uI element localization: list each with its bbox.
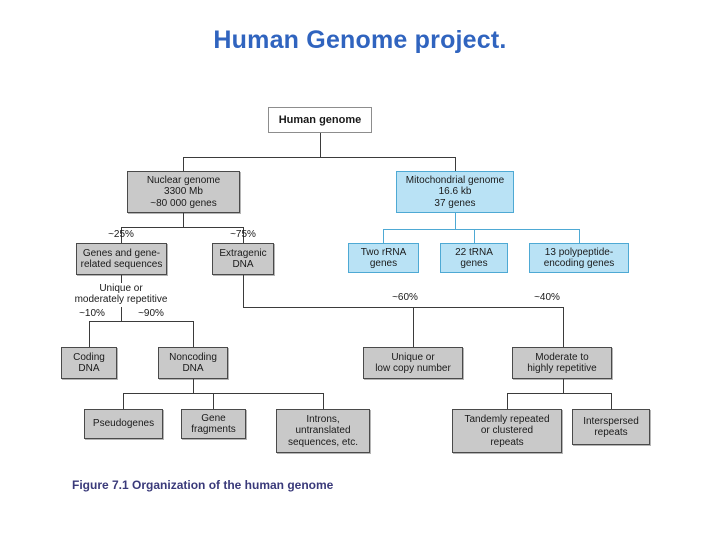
node-13-polypeptide-encoding-genes[interactable]: 13 polypeptide- encoding genes [529,243,629,273]
connector-nuclear-stem [183,213,184,227]
connector-mito-stem [455,213,456,229]
connector-noncoding-stem [193,379,194,393]
genome-organization-diagram: Human genome Nuclear genome 3300 Mb ~80 … [0,95,720,495]
connector-to-interspersed-repeats [611,393,612,409]
figure-caption: Figure 7.1 Organization of the human gen… [72,478,492,492]
node-two-rrna-genes[interactable]: Two rRNA genes [348,243,419,273]
node-extragenic-dna[interactable]: Extragenic DNA [212,243,274,275]
connector-to-tandemly-repeated [507,393,508,409]
connector-to-mitochondrial [455,157,456,171]
connector-mito-span [383,229,579,230]
connector-to-unique-low-copy [413,307,414,347]
connector-to-polypeptide [579,229,580,243]
label-pct-25: ~25% [96,229,146,240]
node-genes-and-related-sequences[interactable]: Genes and gene- related sequences [76,243,167,275]
connector-nuclear-span [121,227,243,228]
connector-noncoding-span [123,393,323,394]
label-pct-40: ~40% [527,292,567,303]
node-unique-or-low-copy-number[interactable]: Unique or low copy number [363,347,463,379]
connector-to-nuclear [183,157,184,171]
connector-coding-span [89,321,193,322]
node-tandemly-repeated-clustered-repeats[interactable]: Tandemly repeated or clustered repeats [452,409,562,453]
node-mitochondrial-genome[interactable]: Mitochondrial genome 16.6 kb 37 genes [396,171,514,213]
node-gene-fragments[interactable]: Gene fragments [181,409,246,439]
connector-extragenic-stem [243,275,244,307]
connector-root-span [183,157,455,158]
node-human-genome[interactable]: Human genome [268,107,372,133]
node-noncoding-dna[interactable]: Noncoding DNA [158,347,228,379]
label-pct-90: ~90% [131,308,171,319]
connector-moderate-stem [563,379,564,393]
connector-genes-related-stem [121,275,122,283]
connector-unique-moderate-stem [121,307,122,321]
label-pct-10: ~10% [72,308,112,319]
node-nuclear-genome[interactable]: Nuclear genome 3300 Mb ~80 000 genes [127,171,240,213]
connector-to-gene-fragments [213,393,214,409]
page-title: Human Genome project. [0,26,720,55]
node-pseudogenes[interactable]: Pseudogenes [84,409,163,439]
connector-to-noncoding-dna [193,321,194,347]
connector-to-rrna [383,229,384,243]
node-moderate-to-highly-repetitive[interactable]: Moderate to highly repetitive [512,347,612,379]
connector-to-coding-dna [89,321,90,347]
connector-root-stem [320,133,321,157]
connector-extragenic-span [243,307,563,308]
node-22-trna-genes[interactable]: 22 tRNA genes [440,243,508,273]
label-unique-or-moderately-repetitive: Unique or moderately repetitive [56,283,186,305]
node-introns-untranslated-sequences[interactable]: Introns, untranslated sequences, etc. [276,409,370,453]
connector-to-pseudogenes [123,393,124,409]
connector-to-moderate-repetitive [563,307,564,347]
connector-to-introns [323,393,324,409]
node-interspersed-repeats[interactable]: Interspersed repeats [572,409,650,445]
connector-to-trna [474,229,475,243]
node-coding-dna[interactable]: Coding DNA [61,347,117,379]
label-pct-75: ~75% [218,229,268,240]
label-pct-60: ~60% [385,292,425,303]
connector-moderate-span [507,393,611,394]
slide: Human Genome project. Human genome Nucle… [0,0,720,540]
